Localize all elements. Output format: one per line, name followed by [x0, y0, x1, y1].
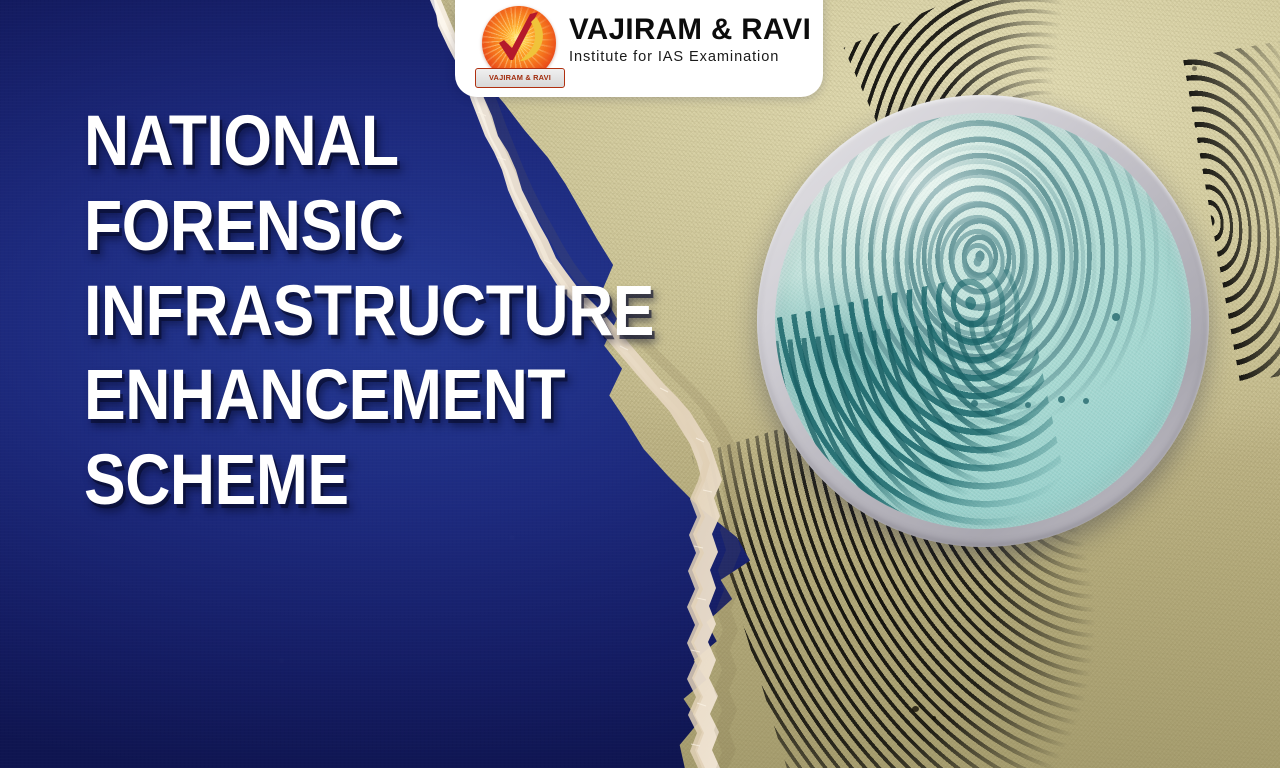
lens-minutia-dot	[1083, 398, 1089, 404]
lens-minutia-dot	[971, 400, 978, 407]
page-title: NATIONAL FORENSIC INFRASTRUCTURE ENHANCE…	[84, 108, 704, 515]
magnifying-glass-icon	[757, 95, 1209, 547]
vajiram-ravi-logo-icon: VAJIRAM & RAVI	[477, 3, 563, 89]
paper-speck	[912, 706, 919, 712]
title-line-4: ENHANCEMENT	[84, 362, 630, 430]
brand-logo-badge[interactable]: VAJIRAM & RAVI VAJIRAM & RAVI Institute …	[455, 0, 823, 97]
logo-ribbon-banner: VAJIRAM & RAVI	[475, 68, 565, 88]
poster-canvas: NATIONAL FORENSIC INFRASTRUCTURE ENHANCE…	[0, 0, 1280, 768]
brand-tagline: Institute for IAS Examination	[569, 48, 811, 68]
logo-ribbon-text: VAJIRAM & RAVI	[489, 73, 551, 82]
paper-speck	[932, 716, 936, 720]
lens-minutia-dot	[1025, 402, 1031, 408]
paper-speck	[1192, 66, 1197, 71]
title-line-2: FORENSIC	[84, 193, 630, 261]
lens-minutia-dot	[1112, 313, 1120, 321]
title-line-1: NATIONAL	[84, 108, 630, 176]
lens-minutia-dot	[1058, 396, 1065, 403]
fingerprint-icon-magnified-arc-inner	[775, 315, 1054, 529]
brand-name: VAJIRAM & RAVI	[569, 14, 811, 45]
magnifier-lens	[775, 113, 1191, 529]
title-line-3: INFRASTRUCTURE	[84, 278, 630, 346]
title-line-5: SCHEME	[84, 447, 630, 515]
brand-text-block: VAJIRAM & RAVI Institute for IAS Examina…	[569, 14, 811, 78]
